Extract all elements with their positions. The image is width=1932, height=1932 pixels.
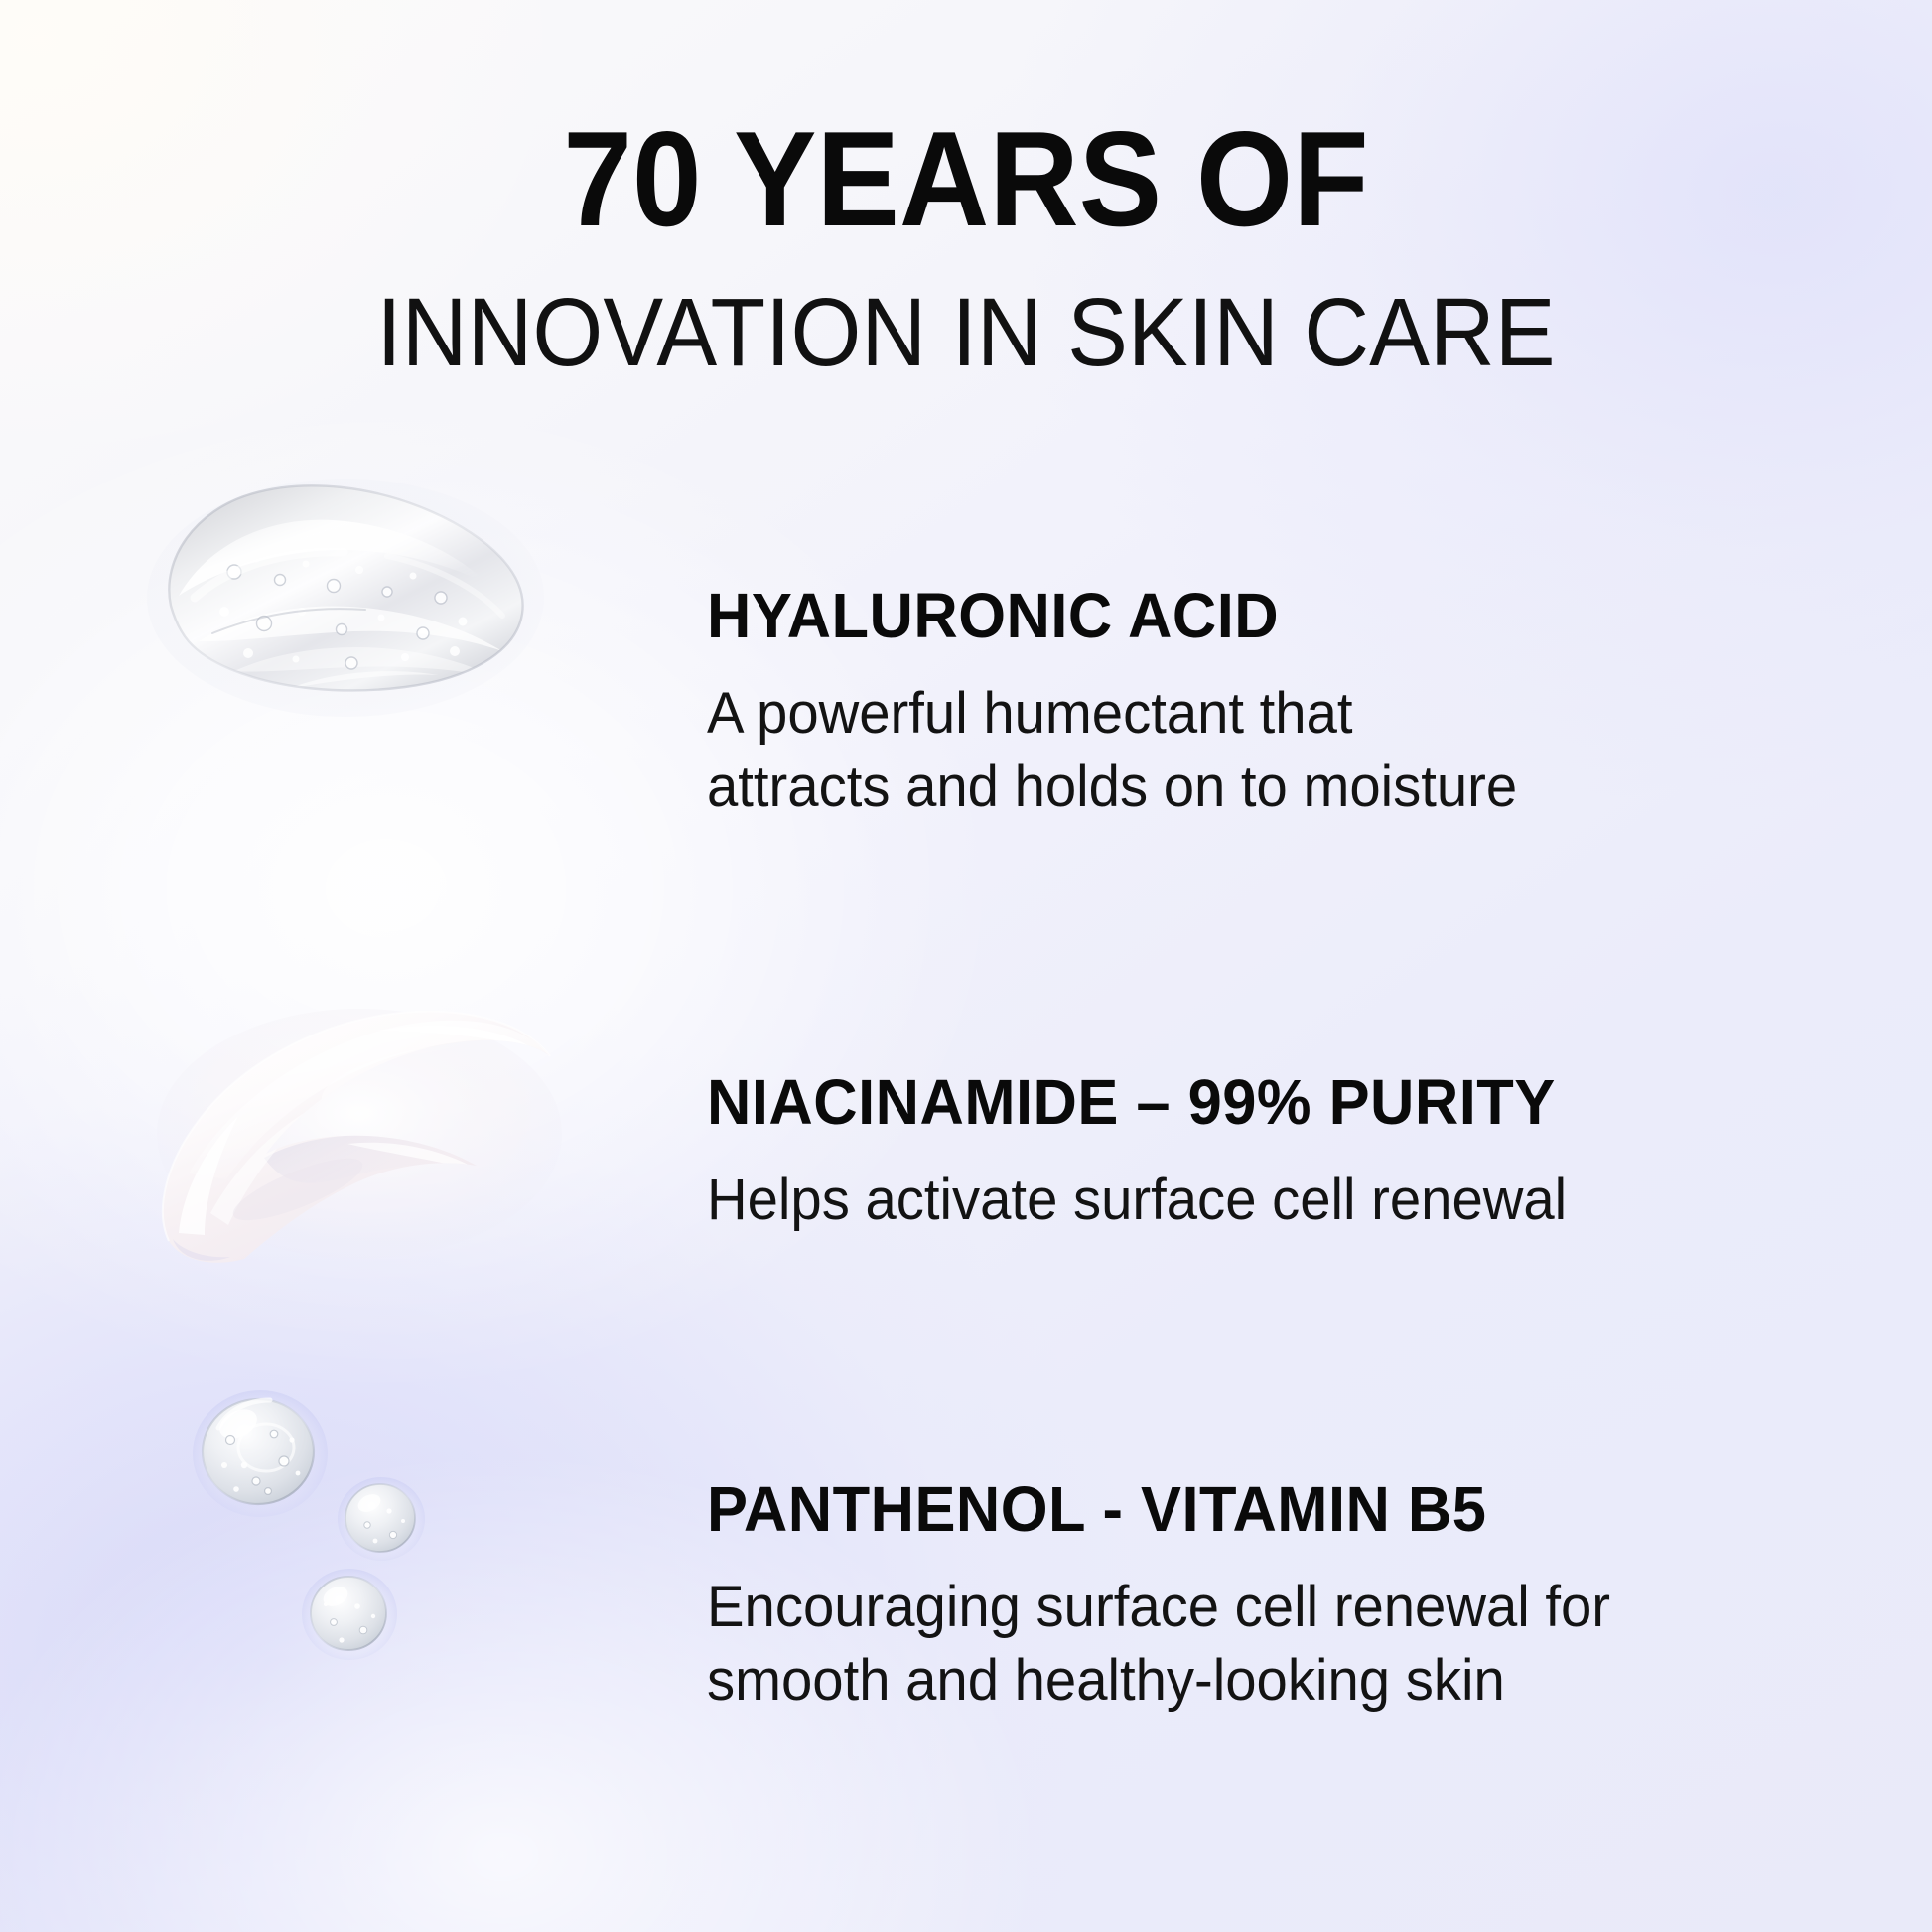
serum-droplets-image: [179, 1366, 477, 1664]
clear-gel-swatch-image: [139, 447, 556, 745]
page-subtitle: INNOVATION IN SKIN CARE: [58, 284, 1873, 380]
droplet-large: [193, 1390, 328, 1517]
ingredient-text-hyaluronic-acid: HYALURONIC ACID A powerful humectant tha…: [707, 584, 1829, 823]
serum-droplets-icon: [179, 1366, 477, 1664]
ingredient-text-panthenol: PANTHENOL - VITAMIN B5 Encouraging surfa…: [707, 1477, 1829, 1717]
ingredient-title: NIACINAMIDE – 99% PURITY: [707, 1070, 1784, 1134]
ingredient-text-niacinamide: NIACINAMIDE – 99% PURITY Helps activate …: [707, 1070, 1829, 1237]
header: 70 YEARS OF INNOVATION IN SKIN CARE: [0, 111, 1932, 380]
ingredient-title: HYALURONIC ACID: [707, 584, 1784, 647]
cream-swatch-image: [149, 985, 566, 1283]
ingredient-title: PANTHENOL - VITAMIN B5: [707, 1477, 1784, 1541]
ingredient-description: Helps activate surface cell renewal: [707, 1164, 1795, 1237]
droplet-medium: [338, 1477, 425, 1561]
ingredient-description: Encouraging surface cell renewal for smo…: [707, 1571, 1795, 1717]
promo-graphic: 70 YEARS OF INNOVATION IN SKIN CARE: [0, 0, 1932, 1932]
page-title: 70 YEARS OF: [77, 111, 1855, 246]
cream-swatch-icon: [149, 985, 566, 1283]
ingredient-description: A powerful humectant that attracts and h…: [707, 677, 1795, 823]
clear-gel-swatch-icon: [139, 447, 556, 745]
droplet-small: [302, 1569, 397, 1660]
